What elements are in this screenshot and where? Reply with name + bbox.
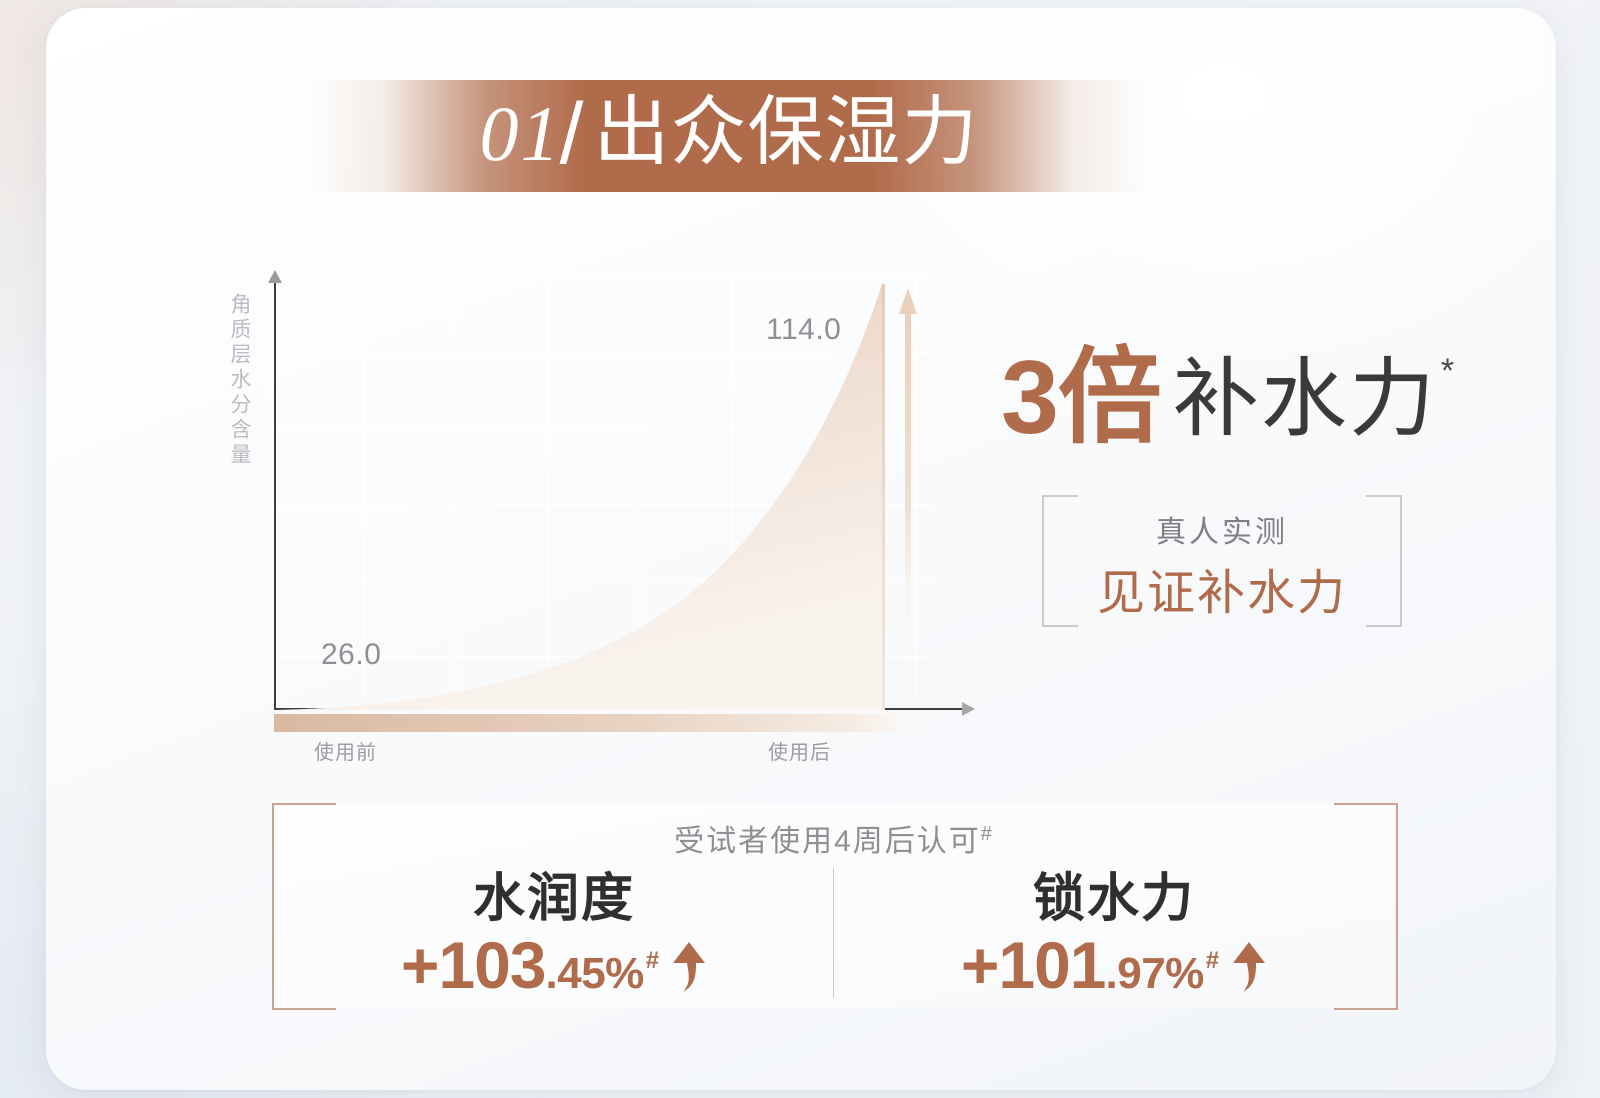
- claim-headline: 3倍 补水力 *: [1001, 346, 1471, 450]
- header-title: 出众保湿力: [593, 95, 978, 171]
- header-banner: 01 / 出众保湿力: [309, 80, 1149, 192]
- stat-value-decimal: .97%: [1106, 952, 1204, 996]
- stat-value-integer: +103: [401, 932, 546, 998]
- value-after-label: 114.0: [766, 313, 841, 347]
- header-number: 01: [480, 95, 562, 173]
- stat-title: 锁水力: [834, 870, 1394, 930]
- claim-subbox: 真人实测 见证补水力: [1042, 495, 1402, 629]
- content-card: 01 / 出众保湿力 角质层水分含量 114: [46, 8, 1556, 1090]
- stat-value-integer: +101: [961, 932, 1106, 998]
- stat-value: +103 .45% #: [274, 932, 834, 998]
- claim-sub-bottom: 见证补水力: [1042, 553, 1402, 623]
- claim-block: 3倍 补水力 *: [1001, 346, 1471, 450]
- up-trend-arrow-icon: [671, 942, 707, 996]
- x-label-before: 使用前: [314, 736, 377, 765]
- stats-heading-mark: #: [981, 823, 994, 845]
- axis-right-arrow-icon: [962, 702, 975, 716]
- stat-title: 水润度: [274, 870, 834, 930]
- value-before-label: 26.0: [321, 638, 381, 672]
- chart-peak-edge: [882, 284, 885, 710]
- stat-value-mark: #: [1206, 949, 1219, 973]
- header-separator: /: [560, 91, 584, 177]
- stats-heading: 受试者使用4周后认可#: [274, 816, 1394, 860]
- stat-item-moisture: 水润度 +103 .45% #: [274, 870, 834, 998]
- stats-heading-text: 受试者使用4周后认可: [674, 825, 981, 858]
- stat-value-mark: #: [646, 949, 659, 973]
- claim-footnote-mark: *: [1441, 354, 1454, 388]
- stat-value: +101 .97% #: [834, 932, 1394, 998]
- x-label-after: 使用后: [768, 736, 831, 765]
- x-axis-ruler: [274, 714, 934, 732]
- stat-value-decimal: .45%: [546, 952, 644, 996]
- up-trend-arrow-icon: [1231, 942, 1267, 996]
- stat-item-lock: 锁水力 +101 .97% #: [834, 870, 1394, 998]
- claim-sub-top: 真人实测: [1042, 507, 1402, 551]
- up-arrow-icon: [896, 288, 920, 680]
- claim-effect: 补水力: [1173, 356, 1437, 442]
- y-axis-label: 角质层水分含量: [224, 293, 250, 468]
- claim-multiplier: 3倍: [1001, 346, 1161, 450]
